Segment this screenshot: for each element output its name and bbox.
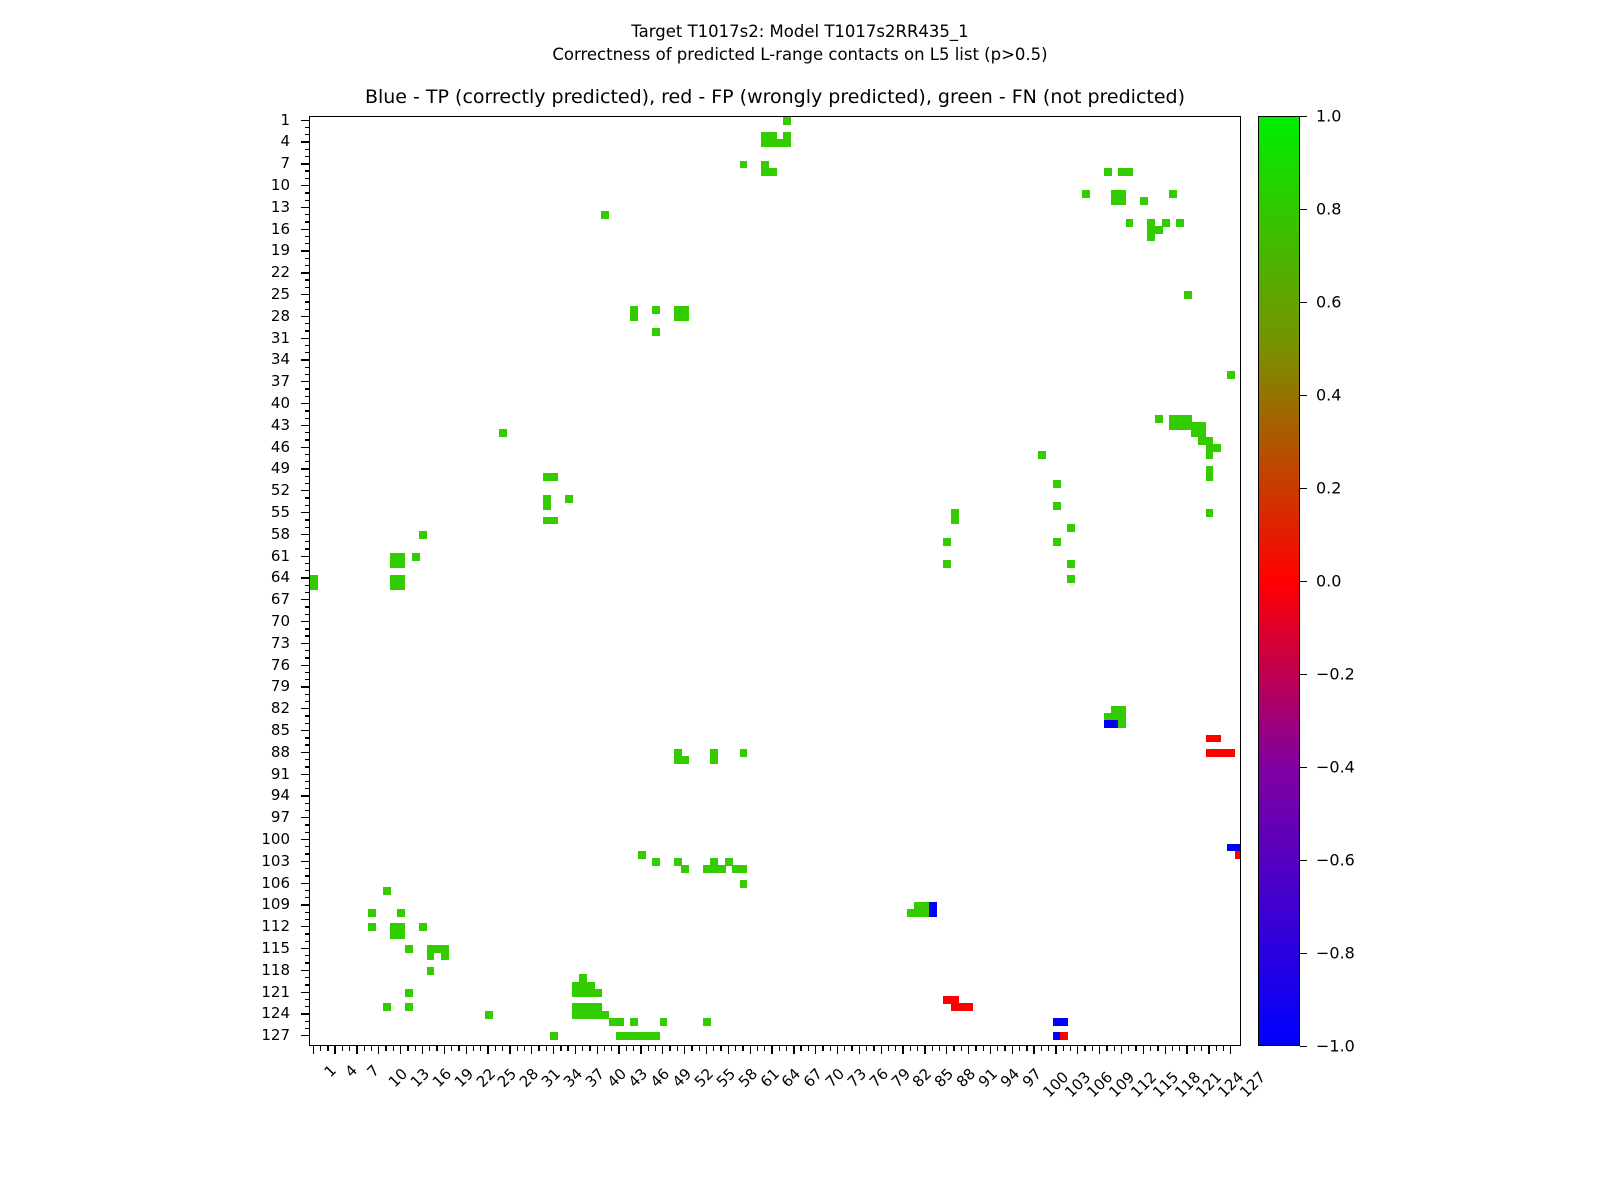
y-tick-major — [301, 926, 309, 927]
y-tick-major — [301, 970, 309, 971]
y-tick-label: 46 — [271, 438, 290, 456]
x-tick-major — [793, 1046, 794, 1054]
y-tick-minor — [305, 527, 310, 528]
x-tick-minor — [888, 1046, 889, 1051]
fn-cell — [630, 313, 638, 321]
x-tick-minor — [415, 1046, 416, 1051]
y-tick-label: 58 — [271, 525, 290, 543]
y-tick-minor — [305, 853, 310, 854]
y-tick-minor — [305, 606, 310, 607]
y-tick-minor — [305, 635, 310, 636]
y-tick-major — [301, 207, 309, 208]
x-tick-minor — [895, 1046, 896, 1051]
fn-cell — [943, 538, 951, 546]
y-tick-minor — [305, 279, 310, 280]
y-tick-label: 7 — [280, 154, 290, 172]
y-tick-minor — [305, 570, 310, 571]
y-tick-label: 76 — [271, 656, 290, 674]
y-tick-minor — [305, 715, 310, 716]
axes-title: Blue - TP (correctly predicted), red - F… — [309, 86, 1241, 108]
x-tick-minor — [517, 1046, 518, 1051]
y-tick-minor — [305, 258, 310, 259]
x-tick-minor — [327, 1046, 328, 1051]
fn-cell — [681, 865, 689, 873]
y-tick-major — [301, 730, 309, 731]
y-tick-minor — [305, 766, 310, 767]
y-tick-minor — [305, 919, 310, 920]
x-tick-minor — [713, 1046, 714, 1051]
colorbar[interactable] — [1258, 116, 1300, 1046]
fn-cell — [1176, 219, 1184, 227]
x-tick-major — [859, 1046, 860, 1054]
y-tick-minor — [305, 519, 310, 520]
y-tick-label: 1 — [280, 111, 290, 129]
x-tick-major — [422, 1046, 423, 1054]
fn-cell — [1118, 197, 1126, 205]
x-tick-major — [1012, 1046, 1013, 1054]
x-tick-major — [378, 1046, 379, 1054]
contact-map-plot[interactable] — [309, 116, 1241, 1046]
fn-cell — [1067, 524, 1075, 532]
fp-cell — [1213, 735, 1221, 743]
fn-cell — [1126, 168, 1134, 176]
y-tick-major — [301, 817, 309, 818]
tp-cell — [929, 909, 937, 917]
x-tick-major — [509, 1046, 510, 1054]
x-tick-minor — [655, 1046, 656, 1051]
y-tick-minor — [305, 192, 310, 193]
y-tick-label: 100 — [261, 830, 290, 848]
x-tick-minor — [611, 1046, 612, 1051]
colorbar-tick-label: 0.8 — [1316, 200, 1341, 219]
y-tick-major — [301, 185, 309, 186]
x-tick-major — [487, 1046, 488, 1054]
x-tick-major — [1033, 1046, 1034, 1054]
x-tick-minor — [342, 1046, 343, 1051]
x-tick-minor — [1128, 1046, 1129, 1051]
x-tick-major — [618, 1046, 619, 1054]
y-tick-minor — [305, 701, 310, 702]
y-tick-minor — [305, 236, 310, 237]
x-tick-minor — [1179, 1046, 1180, 1051]
x-tick-minor — [626, 1046, 627, 1051]
y-tick-minor — [305, 432, 310, 433]
x-tick-major — [334, 1046, 335, 1054]
x-tick-minor — [393, 1046, 394, 1051]
x-axis-ticks — [309, 1046, 1241, 1056]
fn-cell — [1206, 509, 1214, 517]
y-tick-minor — [305, 744, 310, 745]
fn-cell — [419, 531, 427, 539]
x-tick-minor — [364, 1046, 365, 1051]
x-tick-minor — [648, 1046, 649, 1051]
fn-cell — [783, 117, 791, 125]
x-tick-minor — [669, 1046, 670, 1051]
colorbar-tick-labels: 1.00.80.60.40.20.0−0.2−0.4−0.6−0.8−1.0 — [1308, 116, 1428, 1046]
fn-cell — [638, 851, 646, 859]
x-tick-minor — [1201, 1046, 1202, 1051]
fn-cell — [616, 1018, 624, 1026]
fn-cell — [1169, 190, 1177, 198]
y-tick-minor — [305, 585, 310, 586]
y-tick-minor — [305, 962, 310, 963]
x-tick-minor — [567, 1046, 568, 1051]
x-tick-major — [1077, 1046, 1078, 1054]
y-tick-major — [301, 490, 309, 491]
x-tick-minor — [495, 1046, 496, 1051]
x-tick-major — [1165, 1046, 1166, 1054]
y-tick-minor — [305, 301, 310, 302]
x-tick-major — [662, 1046, 663, 1054]
colorbar-tick-label: 0.6 — [1316, 293, 1341, 312]
y-tick-label: 37 — [271, 372, 290, 390]
y-tick-label: 106 — [261, 874, 290, 892]
y-tick-label: 49 — [271, 459, 290, 477]
fn-cell — [652, 1032, 660, 1040]
x-tick-minor — [582, 1046, 583, 1051]
fn-cell — [943, 560, 951, 568]
y-tick-minor — [305, 265, 310, 266]
fn-cell — [594, 989, 602, 997]
x-tick-minor — [1135, 1046, 1136, 1051]
fn-cell — [1140, 197, 1148, 205]
x-tick-minor — [538, 1046, 539, 1051]
fn-cell — [368, 923, 376, 931]
y-tick-minor — [305, 781, 310, 782]
y-tick-label: 103 — [261, 852, 290, 870]
y-tick-minor — [305, 476, 310, 477]
fn-cell — [740, 161, 748, 169]
x-tick-minor — [633, 1046, 634, 1051]
y-tick-major — [301, 294, 309, 295]
x-tick-major — [1099, 1046, 1100, 1054]
x-tick-major — [313, 1046, 314, 1054]
y-tick-label: 64 — [271, 568, 290, 586]
y-tick-major — [301, 534, 309, 535]
x-tick-minor — [1194, 1046, 1195, 1051]
y-tick-major — [301, 752, 309, 753]
x-tick-major — [575, 1046, 576, 1054]
colorbar-tick — [1300, 767, 1307, 768]
y-tick-label: 10 — [271, 176, 290, 194]
fn-cell — [1104, 168, 1112, 176]
y-tick-label: 127 — [261, 1026, 290, 1044]
colorbar-tick-label: −0.8 — [1316, 944, 1355, 963]
x-tick-minor — [546, 1046, 547, 1051]
y-tick-minor — [305, 868, 310, 869]
y-tick-minor — [305, 723, 310, 724]
fn-cell — [1162, 219, 1170, 227]
x-tick-minor — [866, 1046, 867, 1051]
y-tick-major — [301, 1035, 309, 1036]
y-tick-minor — [305, 984, 310, 985]
fn-cell — [769, 168, 777, 176]
fn-cell — [1206, 473, 1214, 481]
y-tick-label: 97 — [271, 808, 290, 826]
suptitle-line-1: Target T1017s2: Model T1017s2RR435_1 — [0, 20, 1600, 43]
y-tick-minor — [305, 221, 310, 222]
tp-cell — [1060, 1018, 1068, 1026]
y-tick-label: 85 — [271, 721, 290, 739]
y-tick-minor — [305, 345, 310, 346]
y-tick-major — [301, 120, 309, 121]
y-tick-minor — [305, 287, 310, 288]
y-tick-major — [301, 316, 309, 317]
y-tick-major — [301, 992, 309, 993]
y-tick-minor — [305, 439, 310, 440]
fn-cell — [1038, 451, 1046, 459]
y-tick-minor — [305, 214, 310, 215]
figure-suptitle: Target T1017s2: Model T1017s2RR435_1 Cor… — [0, 20, 1600, 66]
x-tick-major — [771, 1046, 772, 1054]
y-tick-major — [301, 795, 309, 796]
x-tick-minor — [1216, 1046, 1217, 1051]
y-tick-minor — [305, 352, 310, 353]
x-tick-minor — [1157, 1046, 1158, 1051]
x-tick-major — [924, 1046, 925, 1054]
x-tick-minor — [975, 1046, 976, 1051]
suptitle-line-2: Correctness of predicted L-range contact… — [0, 43, 1600, 66]
fn-cell — [630, 1018, 638, 1026]
x-tick-minor — [1092, 1046, 1093, 1051]
fn-cell — [427, 953, 435, 961]
y-tick-minor — [305, 846, 310, 847]
x-tick-minor — [560, 1046, 561, 1051]
y-tick-minor — [305, 200, 310, 201]
y-tick-minor — [305, 897, 310, 898]
y-tick-major — [301, 381, 309, 382]
fn-cell — [1082, 190, 1090, 198]
y-tick-minor — [305, 505, 310, 506]
x-tick-minor — [757, 1046, 758, 1051]
y-tick-major — [301, 621, 309, 622]
y-tick-label: 22 — [271, 263, 290, 281]
fn-cell — [652, 306, 660, 314]
y-tick-minor — [305, 788, 310, 789]
colorbar-tick — [1300, 953, 1307, 954]
x-tick-minor — [480, 1046, 481, 1051]
fn-cell — [550, 1032, 558, 1040]
y-tick-label: 112 — [261, 917, 290, 935]
colorbar-tick — [1300, 395, 1307, 396]
y-tick-major — [301, 163, 309, 164]
y-tick-major — [301, 447, 309, 448]
y-tick-minor — [305, 941, 310, 942]
y-tick-label: 55 — [271, 503, 290, 521]
x-tick-minor — [371, 1046, 372, 1051]
fn-cell — [951, 517, 959, 525]
x-tick-minor — [429, 1046, 430, 1051]
colorbar-tick — [1300, 302, 1307, 303]
y-tick-label: 43 — [271, 416, 290, 434]
y-tick-minor — [305, 999, 310, 1000]
colorbar-tick-label: −1.0 — [1316, 1037, 1355, 1056]
fn-cell — [1067, 560, 1075, 568]
y-tick-minor — [305, 323, 310, 324]
colorbar-tick — [1300, 581, 1307, 582]
fn-cell — [405, 1003, 413, 1011]
x-tick-minor — [1004, 1046, 1005, 1051]
y-tick-minor — [305, 694, 310, 695]
x-tick-minor — [1223, 1046, 1224, 1051]
y-tick-minor — [305, 483, 310, 484]
x-tick-minor — [764, 1046, 765, 1051]
y-tick-label: 82 — [271, 699, 290, 717]
colorbar-tick-label: 0.2 — [1316, 479, 1341, 498]
fp-cell — [1235, 851, 1241, 859]
x-tick-minor — [1114, 1046, 1115, 1051]
fn-cell — [703, 1018, 711, 1026]
colorbar-tick-label: −0.6 — [1316, 851, 1355, 870]
colorbar-tick — [1300, 209, 1307, 210]
y-tick-label: 34 — [271, 350, 290, 368]
x-tick-major — [531, 1046, 532, 1054]
fn-cell — [550, 473, 558, 481]
x-tick-minor — [939, 1046, 940, 1051]
x-tick-major — [640, 1046, 641, 1054]
y-tick-label: 115 — [261, 939, 290, 957]
x-tick-minor — [953, 1046, 954, 1051]
fn-cell — [383, 1003, 391, 1011]
fn-cell — [1067, 575, 1075, 583]
fn-cell — [405, 989, 413, 997]
y-tick-minor — [305, 149, 310, 150]
fn-cell — [652, 328, 660, 336]
x-tick-minor — [851, 1046, 852, 1051]
y-tick-label: 25 — [271, 285, 290, 303]
x-tick-minor — [997, 1046, 998, 1051]
x-tick-minor — [873, 1046, 874, 1051]
y-tick-minor — [305, 497, 310, 498]
x-tick-major — [466, 1046, 467, 1054]
fp-cell — [965, 1003, 973, 1011]
fn-cell — [397, 582, 405, 590]
x-tick-minor — [1063, 1046, 1064, 1051]
colorbar-tick-label: 0.0 — [1316, 572, 1341, 591]
y-tick-minor — [305, 890, 310, 891]
x-tick-minor — [1172, 1046, 1173, 1051]
fn-cell — [310, 582, 318, 590]
x-tick-minor — [524, 1046, 525, 1051]
fn-cell — [660, 1018, 668, 1026]
fn-cell — [601, 211, 609, 219]
x-tick-minor — [961, 1046, 962, 1051]
x-tick-minor — [720, 1046, 721, 1051]
fn-cell — [499, 429, 507, 437]
y-tick-minor — [305, 955, 310, 956]
y-tick-minor — [305, 614, 310, 615]
x-tick-minor — [1070, 1046, 1071, 1051]
fn-cell — [565, 495, 573, 503]
y-tick-major — [301, 556, 309, 557]
y-tick-major — [301, 577, 309, 578]
x-tick-major — [706, 1046, 707, 1054]
y-tick-minor — [305, 170, 310, 171]
y-tick-minor — [305, 156, 310, 157]
fn-cell — [740, 865, 748, 873]
x-tick-minor — [1041, 1046, 1042, 1051]
y-tick-major — [301, 599, 309, 600]
fn-cell — [1206, 451, 1214, 459]
fn-cell — [397, 560, 405, 568]
x-tick-major — [837, 1046, 838, 1054]
y-tick-major — [301, 839, 309, 840]
y-tick-minor — [305, 759, 310, 760]
x-tick-minor — [349, 1046, 350, 1051]
y-tick-major — [301, 425, 309, 426]
y-tick-minor — [305, 548, 310, 549]
y-tick-label: 52 — [271, 481, 290, 499]
y-tick-label: 4 — [280, 132, 290, 150]
fp-cell — [1227, 749, 1235, 757]
y-tick-label: 121 — [261, 983, 290, 1001]
colorbar-tick-label: 0.4 — [1316, 386, 1341, 405]
y-tick-major — [301, 1013, 309, 1014]
y-tick-minor — [305, 134, 310, 135]
y-tick-minor — [305, 330, 310, 331]
y-tick-label: 19 — [271, 241, 290, 259]
x-tick-major — [728, 1046, 729, 1054]
y-tick-minor — [305, 388, 310, 389]
y-tick-major — [301, 250, 309, 251]
y-tick-minor — [305, 628, 310, 629]
fn-cell — [681, 756, 689, 764]
fn-cell — [405, 945, 413, 953]
y-tick-major — [301, 512, 309, 513]
y-tick-minor — [305, 309, 310, 310]
y-tick-minor — [305, 367, 310, 368]
x-tick-minor — [735, 1046, 736, 1051]
y-tick-major — [301, 904, 309, 905]
fn-cell — [368, 909, 376, 917]
x-tick-major — [1143, 1046, 1144, 1054]
x-tick-minor — [808, 1046, 809, 1051]
y-tick-major — [301, 338, 309, 339]
colorbar-tick-label: 1.0 — [1316, 107, 1341, 126]
y-tick-major — [301, 948, 309, 949]
colorbar-tick — [1300, 1046, 1307, 1047]
y-tick-minor — [305, 803, 310, 804]
x-tick-minor — [677, 1046, 678, 1051]
x-tick-major — [881, 1046, 882, 1054]
y-tick-minor — [305, 418, 310, 419]
y-tick-minor — [305, 374, 310, 375]
y-tick-major — [301, 643, 309, 644]
y-tick-major — [301, 861, 309, 862]
x-tick-major — [1186, 1046, 1187, 1054]
x-tick-minor — [1026, 1046, 1027, 1051]
colorbar-tick — [1300, 116, 1307, 117]
y-tick-minor — [305, 1021, 310, 1022]
x-tick-major — [750, 1046, 751, 1054]
y-tick-minor — [305, 243, 310, 244]
x-tick-minor — [779, 1046, 780, 1051]
fn-cell — [397, 931, 405, 939]
y-tick-label: 67 — [271, 590, 290, 608]
colorbar-tick-label: −0.2 — [1316, 665, 1355, 684]
fn-cell — [718, 865, 726, 873]
fn-cell — [1118, 720, 1126, 728]
y-axis-tick-labels: 1471013161922252831343740434649525558616… — [0, 116, 302, 1046]
fn-cell — [550, 517, 558, 525]
fp-cell — [1060, 1032, 1068, 1040]
y-tick-minor — [305, 657, 310, 658]
y-tick-major — [301, 665, 309, 666]
fn-cell — [1155, 226, 1163, 234]
colorbar-tick — [1300, 674, 1307, 675]
x-tick-label: 7 — [364, 1061, 383, 1080]
fn-cell — [710, 756, 718, 764]
